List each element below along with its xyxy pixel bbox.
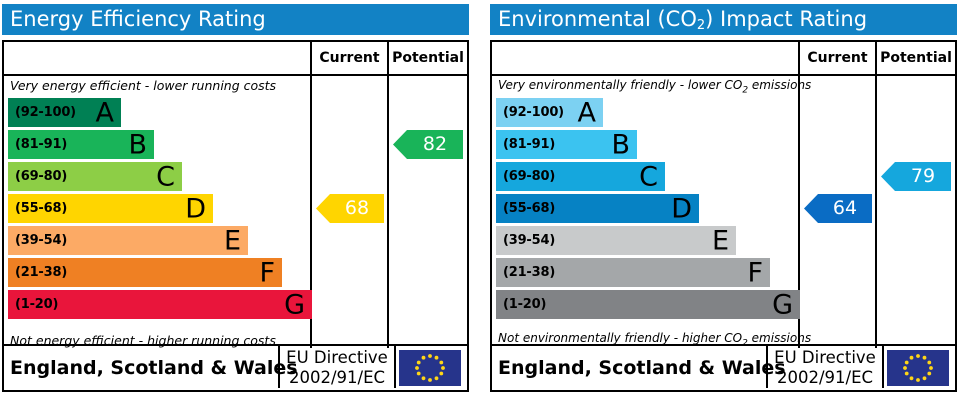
co2-chart-header-row: Current Potential: [492, 42, 955, 76]
energy-chart-title: Energy Efficiency Rating: [2, 4, 469, 35]
band-b-letter: B: [128, 131, 147, 158]
co2-chart-title: Environmental (CO2) Impact Rating: [490, 4, 957, 35]
co2-current-rating-value: 64: [833, 197, 857, 219]
band-a-range: (92-100): [503, 98, 564, 127]
energy-note-top: Very energy efficient - lower running co…: [10, 78, 276, 93]
band-b-range: (81-91): [503, 130, 555, 159]
band-b-letter: B: [611, 131, 630, 158]
co2-chart-body: Current Potential Very environmentally f…: [490, 40, 957, 392]
co2-footer-divider-2: [882, 346, 884, 388]
eu-flag-icon: [887, 350, 949, 386]
energy-col-potential-label: Potential: [389, 42, 467, 74]
energy-directive-line1: EU Directive: [282, 348, 392, 368]
band-d-letter: D: [671, 195, 692, 222]
co2-footer-directive: EU Directive 2002/91/EC: [770, 348, 880, 388]
co2-note-bottom-post: emissions: [748, 331, 811, 345]
band-e: (39-54) E: [496, 226, 736, 255]
energy-current-rating-arrow: 68: [316, 194, 384, 223]
band-a-letter: A: [578, 99, 596, 126]
eu-flag-stars-svg: [399, 350, 461, 386]
band-d-range: (55-68): [15, 194, 67, 223]
band-c-letter: C: [156, 163, 175, 190]
band-b: (81-91) B: [8, 130, 154, 159]
energy-footer-region: England, Scotland & Wales: [10, 346, 298, 390]
co2-chart-title-pre: Environmental (CO: [498, 7, 697, 31]
band-f-letter: F: [259, 259, 275, 286]
co2-current-rating-arrow: 64: [804, 194, 872, 223]
co2-impact-rating-chart: Environmental (CO2) Impact Rating Curren…: [490, 4, 957, 400]
co2-potential-rating-value: 79: [911, 165, 935, 187]
co2-potential-rating-arrow: 79: [881, 162, 951, 191]
energy-band-list: (92-100) A (81-91) B (69-80) C (55-68) D: [8, 98, 312, 322]
band-f: (21-38) F: [496, 258, 770, 287]
band-e-letter: E: [224, 227, 241, 254]
band-f: (21-38) F: [8, 258, 282, 287]
band-g-range: (1-20): [15, 290, 58, 319]
energy-col-current-label: Current: [312, 42, 387, 74]
band-f-range: (21-38): [503, 258, 555, 287]
band-d-letter: D: [185, 195, 206, 222]
co2-footer-region: England, Scotland & Wales: [498, 346, 786, 390]
co2-note-bottom-pre: Not environmentally friendly - higher CO: [498, 331, 742, 345]
band-f-range: (21-38): [15, 258, 67, 287]
eu-flag-icon: [399, 350, 461, 386]
band-c-range: (69-80): [15, 162, 67, 191]
band-c-range: (69-80): [503, 162, 555, 191]
co2-col-current-label: Current: [800, 42, 875, 74]
energy-efficiency-rating-chart: Energy Efficiency Rating Current Potenti…: [2, 4, 469, 400]
co2-directive-line2: 2002/91/EC: [770, 368, 880, 388]
energy-footer-row: England, Scotland & Wales EU Directive 2…: [4, 344, 467, 390]
band-e-range: (39-54): [15, 226, 67, 255]
co2-footer-divider-1: [766, 346, 768, 388]
energy-directive-line2: 2002/91/EC: [282, 368, 392, 388]
energy-potential-rating-value: 82: [423, 133, 447, 155]
co2-col-potential-label: Potential: [877, 42, 955, 74]
band-g-letter: G: [284, 291, 305, 318]
co2-directive-line1: EU Directive: [770, 348, 880, 368]
co2-band-list: (92-100) A (81-91) B (69-80) C (55-68) D: [496, 98, 800, 322]
band-e-range: (39-54): [503, 226, 555, 255]
band-d-range: (55-68): [503, 194, 555, 223]
energy-potential-rating-arrow: 82: [393, 130, 463, 159]
energy-chart-body: Current Potential Very energy efficient …: [2, 40, 469, 392]
band-b-range: (81-91): [15, 130, 67, 159]
band-a-range: (92-100): [15, 98, 76, 127]
band-g-range: (1-20): [503, 290, 546, 319]
co2-chart-title-sub: 2: [697, 18, 705, 33]
band-a-letter: A: [96, 99, 114, 126]
band-b: (81-91) B: [496, 130, 637, 159]
energy-current-rating-value: 68: [345, 197, 369, 219]
band-a: (92-100) A: [496, 98, 603, 127]
band-a: (92-100) A: [8, 98, 121, 127]
band-d: (55-68) D: [496, 194, 699, 223]
energy-chart-header-row: Current Potential: [4, 42, 467, 76]
eu-flag-stars-svg: [887, 350, 949, 386]
band-g-letter: G: [772, 291, 793, 318]
band-c: (69-80) C: [496, 162, 665, 191]
energy-band-region: Very energy efficient - lower running co…: [4, 76, 467, 350]
band-g: (1-20) G: [8, 290, 312, 319]
energy-chart-title-text: Energy Efficiency Rating: [10, 7, 266, 31]
band-c-letter: C: [639, 163, 658, 190]
co2-note-top-post: emissions: [748, 78, 811, 92]
co2-note-top: Very environmentally friendly - lower CO…: [498, 78, 811, 95]
energy-footer-divider-2: [394, 346, 396, 388]
band-g: (1-20) G: [496, 290, 800, 319]
energy-footer-divider-1: [278, 346, 280, 388]
energy-footer-directive: EU Directive 2002/91/EC: [282, 348, 392, 388]
epc-certificate-page: Energy Efficiency Rating Current Potenti…: [0, 0, 957, 404]
band-e: (39-54) E: [8, 226, 248, 255]
co2-footer-row: England, Scotland & Wales EU Directive 2…: [492, 344, 955, 390]
co2-band-region: Very environmentally friendly - lower CO…: [492, 76, 955, 350]
band-d: (55-68) D: [8, 194, 213, 223]
band-c: (69-80) C: [8, 162, 182, 191]
co2-chart-title-post: ) Impact Rating: [705, 7, 867, 31]
band-e-letter: E: [712, 227, 729, 254]
band-f-letter: F: [747, 259, 763, 286]
co2-note-top-pre: Very environmentally friendly - lower CO: [498, 78, 742, 92]
